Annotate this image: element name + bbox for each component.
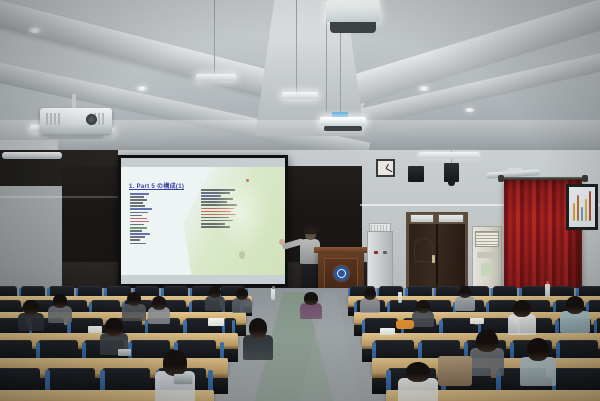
audience-torso <box>300 303 322 319</box>
slide-title: 1. Part 5 の構成(1) <box>129 181 184 190</box>
podium-top <box>314 247 368 253</box>
wall-fluorescent-lamp <box>418 152 480 159</box>
water-bottle <box>545 284 550 297</box>
audience-torso <box>398 378 438 401</box>
audience-torso <box>560 311 590 333</box>
notebook-paper <box>380 328 395 335</box>
audience-member <box>398 362 438 401</box>
smartphone[interactable] <box>118 349 131 356</box>
audience-head <box>459 286 471 298</box>
door-transom-window <box>438 214 464 223</box>
notebook-paper <box>208 318 224 326</box>
audience-head <box>236 288 248 300</box>
audience-member <box>470 330 504 374</box>
audience-torso <box>243 335 273 360</box>
screen-bottom-bevel <box>121 275 285 284</box>
ceiling-projector <box>40 108 112 134</box>
audience-member <box>300 292 322 318</box>
wall-clock <box>376 159 395 177</box>
audience-head <box>249 318 268 338</box>
audience-member <box>232 288 252 312</box>
left-speaker <box>408 166 424 182</box>
audience-head <box>364 288 376 300</box>
slide-text-line <box>130 205 145 207</box>
recessed-light-icon <box>418 86 430 91</box>
audience-head <box>416 300 430 313</box>
ac-badge <box>481 263 492 276</box>
hanging-fluorescent-lamp <box>320 117 366 126</box>
slide-text-line <box>130 196 144 198</box>
audience-member <box>560 296 590 332</box>
audience-torso <box>232 298 252 313</box>
projection-screen: 1. Part 5 の構成(1) <box>118 155 288 287</box>
slide-text-line <box>130 239 140 241</box>
slide-text-line <box>130 233 150 235</box>
left-wall-panel <box>0 186 70 294</box>
audience-member <box>18 300 44 330</box>
audience-torso <box>455 296 475 311</box>
bottle-cap <box>272 286 275 289</box>
lamp-shade <box>324 126 362 131</box>
audience-torso <box>148 307 170 324</box>
slide-text-line <box>130 208 152 210</box>
lecture-hall-photo: 1. Part 5 の構成(1) <box>0 0 600 401</box>
lamp-shade <box>330 22 376 33</box>
audience-head <box>513 300 530 317</box>
smartphone[interactable] <box>174 374 192 383</box>
audience-torso <box>470 348 504 375</box>
projector-lens-icon <box>86 114 97 125</box>
audience-member <box>508 300 536 334</box>
picture-artwork <box>569 187 595 227</box>
water-bottle <box>271 288 275 300</box>
slide-text-line <box>130 221 149 223</box>
screen-top-bevel <box>121 158 285 167</box>
door-panel-carving <box>414 238 433 262</box>
audience-torso <box>205 296 225 311</box>
audience-member <box>122 292 146 320</box>
hanging-fluorescent-lamp <box>196 74 236 81</box>
audience-member <box>455 286 475 310</box>
door-handle[interactable] <box>432 255 435 263</box>
left-wall-lamp <box>2 152 62 159</box>
audience-head <box>476 330 497 352</box>
ac-control-panel[interactable] <box>477 252 497 258</box>
wall-trim-rail <box>0 196 120 198</box>
university-emblem-inner <box>337 269 346 278</box>
speaker-cone <box>448 180 455 186</box>
notebook-paper <box>470 318 484 324</box>
recessed-light-icon <box>464 108 475 112</box>
recessed-light-icon <box>28 28 42 33</box>
door-transom-window <box>410 214 434 223</box>
hanging-fluorescent-lamp <box>282 92 318 99</box>
audience-head <box>127 292 142 306</box>
water-dispenser <box>367 231 393 293</box>
presenter-hand <box>279 239 285 245</box>
folder <box>396 320 414 329</box>
slide-left-column <box>130 193 194 246</box>
audience-member <box>412 300 434 326</box>
slide-text-line <box>130 236 145 238</box>
dispenser-hot-tap[interactable] <box>374 251 378 254</box>
slide-text-line <box>130 212 148 214</box>
audience-head <box>23 300 39 315</box>
curtain-rod-finial <box>582 175 588 182</box>
slide-text-line <box>130 193 149 195</box>
clock-face <box>378 161 393 175</box>
right-lamp-ballast <box>508 168 522 173</box>
notebook-paper <box>88 326 102 333</box>
audience-torso <box>48 306 72 323</box>
screen-glare <box>213 173 269 251</box>
audience-member <box>148 296 170 323</box>
audience-member <box>520 338 556 384</box>
water-bottle <box>398 292 402 303</box>
slide-text-line <box>130 218 147 220</box>
slide-text-line <box>130 215 142 217</box>
recessed-light-icon <box>136 86 148 91</box>
slide-text-line <box>130 202 143 204</box>
backpack <box>438 356 472 386</box>
bottle-cap <box>546 281 549 284</box>
audience-head <box>566 296 585 314</box>
audience-member <box>205 286 225 310</box>
audience-torso <box>520 357 556 386</box>
slide-text-line <box>130 243 146 245</box>
audience-head <box>105 318 122 336</box>
audience-head <box>53 294 68 308</box>
audience-member <box>243 318 273 358</box>
audience-member <box>48 294 72 322</box>
framed-picture <box>566 184 598 230</box>
ceiling <box>0 0 600 170</box>
audience-head <box>304 292 318 305</box>
light-rod <box>296 0 297 96</box>
audience-torso <box>412 311 434 327</box>
slide-text-line <box>130 230 142 232</box>
light-rod <box>214 0 215 74</box>
presenter-hair <box>304 227 317 234</box>
hanging-fluorescent-lamp <box>326 0 380 22</box>
door-center-seam <box>436 224 438 294</box>
audience-member <box>360 288 380 312</box>
audience-torso <box>360 298 380 313</box>
ac-vent-grill <box>475 231 499 247</box>
slide-text-line <box>130 199 147 201</box>
audience-torso <box>508 314 536 335</box>
audience-head <box>152 296 166 310</box>
slide-text-line <box>130 224 144 226</box>
dispenser-cold-tap[interactable] <box>383 251 387 254</box>
slide-text-line <box>130 227 147 229</box>
audience-head <box>209 286 221 298</box>
audience-torso <box>18 313 44 332</box>
projector-base <box>48 134 104 139</box>
audience-head <box>163 350 188 376</box>
audience-head <box>406 362 431 382</box>
audience-head <box>527 338 549 361</box>
